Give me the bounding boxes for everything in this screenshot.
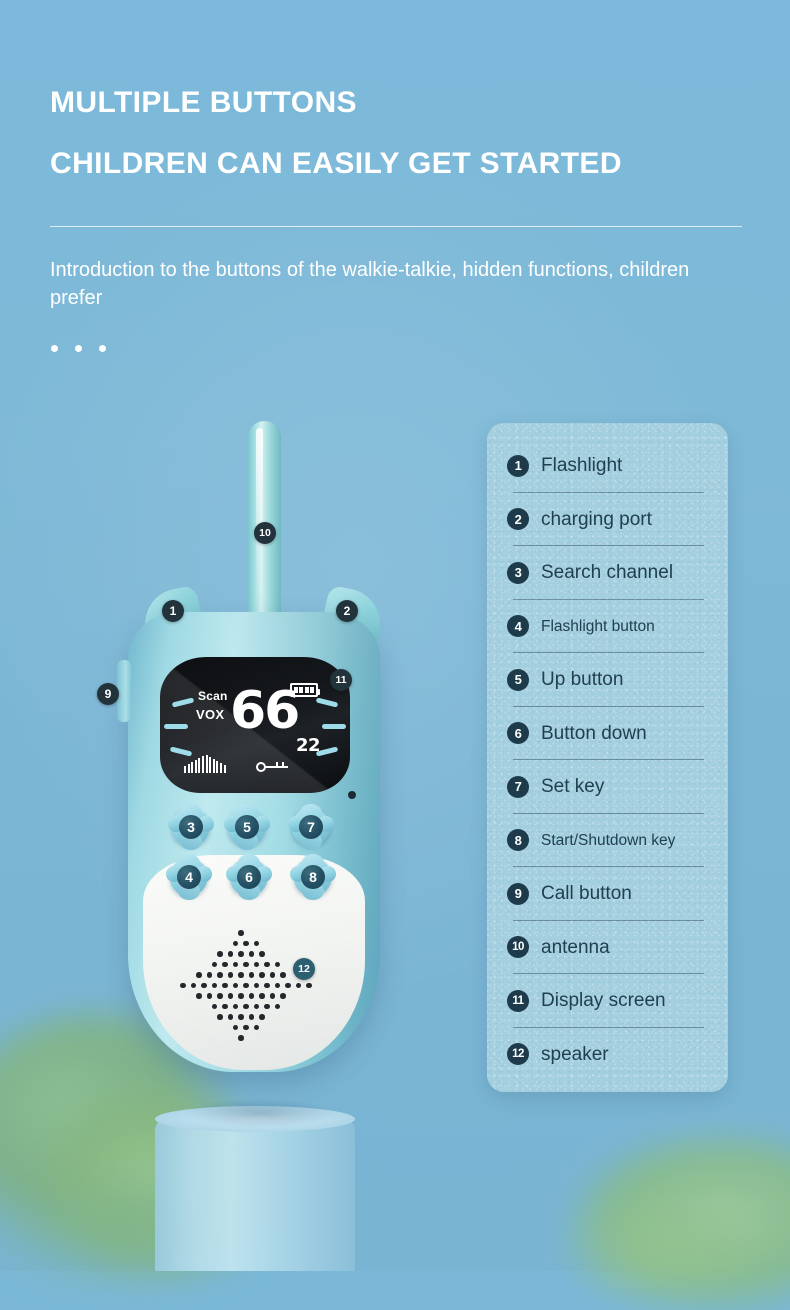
speaker-hole [228, 972, 234, 978]
legend-badge-10: 10 [507, 936, 529, 958]
speaker-hole [233, 962, 239, 968]
speaker-hole [264, 983, 270, 989]
legend-badge-3: 3 [507, 562, 529, 584]
legend-badge-5: 5 [507, 669, 529, 691]
speaker-hole [264, 1004, 270, 1010]
speaker-hole [233, 1025, 239, 1031]
speaker-hole [275, 983, 281, 989]
speaker-hole [285, 983, 291, 989]
legend-badge-2: 2 [507, 508, 529, 530]
legend-item-12[interactable]: 12speaker [487, 1028, 728, 1082]
speaker-hole [233, 941, 239, 947]
button-number-5: 5 [235, 815, 259, 839]
foliage-blur-right-2 [560, 1195, 760, 1305]
speaker-hole [207, 972, 213, 978]
light-dash-right-2 [322, 724, 346, 729]
legend-label-12: speaker [541, 1045, 609, 1064]
speaker-hole [280, 993, 286, 999]
speaker-hole [196, 993, 202, 999]
speaker-hole [259, 951, 265, 957]
speaker-hole [238, 993, 244, 999]
legend-item-6[interactable]: 6Button down [487, 707, 728, 761]
speaker-hole [249, 951, 255, 957]
speaker-hole [243, 1025, 249, 1031]
speaker-hole [212, 983, 218, 989]
legend-item-7[interactable]: 7Set key [487, 760, 728, 814]
speaker-hole [217, 993, 223, 999]
legend-badge-11: 11 [507, 990, 529, 1012]
speaker-hole [249, 993, 255, 999]
legend-label-4: Flashlight button [541, 619, 655, 635]
speaker-hole [254, 941, 260, 947]
speaker-hole [243, 983, 249, 989]
legend-badge-8: 8 [507, 829, 529, 851]
speaker-hole [249, 972, 255, 978]
speaker-hole [228, 993, 234, 999]
speaker-hole [217, 951, 223, 957]
legend-badge-12: 12 [507, 1043, 529, 1065]
speaker-hole [238, 1014, 244, 1020]
legend-list: 1Flashlight2charging port3Search channel… [487, 423, 728, 1081]
legend-item-10[interactable]: 10antenna [487, 921, 728, 975]
legend-label-3: Search channel [541, 563, 673, 582]
legend-label-10: antenna [541, 938, 610, 957]
speaker-hole [254, 1025, 260, 1031]
speaker-hole [196, 972, 202, 978]
button-down[interactable]: 6 [230, 858, 268, 896]
legend-badge-9: 9 [507, 883, 529, 905]
callout-marker-call-button: 9 [97, 683, 119, 705]
speaker-hole [259, 972, 265, 978]
legend-item-4[interactable]: 4Flashlight button [487, 600, 728, 654]
legend-label-6: Button down [541, 724, 647, 743]
speaker-hole [238, 951, 244, 957]
legend-label-2: charging port [541, 510, 652, 529]
speaker-hole [259, 1014, 265, 1020]
callout-marker-charging-port: 2 [336, 600, 358, 622]
speaker-hole [243, 962, 249, 968]
flashlight-button[interactable]: 4 [170, 858, 208, 896]
walkie-talkie-illustration: Scan VOX 66 22 [0, 0, 500, 1271]
button-number-6: 6 [237, 865, 261, 889]
legend-panel: 1Flashlight2charging port3Search channel… [487, 423, 728, 1092]
call-button-side-bar[interactable] [117, 660, 131, 722]
button-number-8: 8 [301, 865, 325, 889]
button-number-7: 7 [299, 815, 323, 839]
speaker-hole [238, 1035, 244, 1041]
speaker-hole [201, 983, 207, 989]
speaker-grille [175, 930, 315, 1048]
speaker-hole [217, 1014, 223, 1020]
legend-item-8[interactable]: 8Start/Shutdown key [487, 814, 728, 868]
speaker-hole [217, 972, 223, 978]
legend-label-8: Start/Shutdown key [541, 833, 675, 849]
speaker-hole [243, 1004, 249, 1010]
legend-badge-7: 7 [507, 776, 529, 798]
speaker-hole [254, 962, 260, 968]
speaker-hole [212, 1004, 218, 1010]
antenna-part [248, 421, 281, 621]
speaker-hole [233, 983, 239, 989]
button-number-4: 4 [177, 865, 201, 889]
speaker-hole [191, 983, 197, 989]
speaker-hole [238, 972, 244, 978]
speaker-hole [222, 983, 228, 989]
legend-label-1: Flashlight [541, 456, 622, 475]
legend-item-3[interactable]: 3Search channel [487, 546, 728, 600]
callout-marker-flashlight: 1 [162, 600, 184, 622]
legend-item-11[interactable]: 11Display screen [487, 974, 728, 1028]
speaker-hole [306, 983, 312, 989]
speaker-hole [275, 962, 281, 968]
legend-label-11: Display screen [541, 991, 666, 1010]
speaker-hole [249, 1014, 255, 1020]
legend-badge-1: 1 [507, 455, 529, 477]
legend-label-7: Set key [541, 777, 604, 796]
speaker-hole [264, 962, 270, 968]
speaker-hole [180, 983, 186, 989]
speaker-hole [280, 972, 286, 978]
legend-item-9[interactable]: 9Call button [487, 867, 728, 921]
speaker-hole [238, 930, 244, 936]
speaker-hole [254, 983, 260, 989]
start-shutdown-button[interactable]: 8 [294, 858, 332, 896]
speaker-hole [270, 972, 276, 978]
speaker-hole [296, 983, 302, 989]
speaker-hole [222, 1004, 228, 1010]
legend-label-5: Up button [541, 670, 623, 689]
speaker-hole [259, 993, 265, 999]
antenna-highlight [256, 428, 263, 598]
light-dash-left-2 [164, 724, 188, 729]
legend-badge-6: 6 [507, 722, 529, 744]
search-channel-button[interactable]: 3 [172, 808, 210, 846]
set-key-button[interactable]: 7 [292, 808, 330, 846]
speaker-hole [222, 962, 228, 968]
legend-item-2[interactable]: 2charging port [487, 493, 728, 547]
microphone-hole [348, 791, 356, 799]
speaker-hole [270, 993, 276, 999]
speaker-hole [233, 1004, 239, 1010]
speaker-hole [212, 962, 218, 968]
legend-badge-4: 4 [507, 615, 529, 637]
speaker-hole [228, 951, 234, 957]
speaker-hole [243, 941, 249, 947]
speaker-hole [254, 1004, 260, 1010]
speaker-hole [228, 1014, 234, 1020]
legend-item-1[interactable]: 1Flashlight [487, 439, 728, 493]
speaker-hole [275, 1004, 281, 1010]
legend-label-9: Call button [541, 884, 632, 903]
legend-item-5[interactable]: 5Up button [487, 653, 728, 707]
button-number-3: 3 [179, 815, 203, 839]
up-button[interactable]: 5 [228, 808, 266, 846]
callout-marker-display-screen: 11 [330, 669, 352, 691]
callout-marker-antenna: 10 [254, 522, 276, 544]
speaker-hole [207, 993, 213, 999]
callout-marker-speaker: 12 [293, 958, 315, 980]
